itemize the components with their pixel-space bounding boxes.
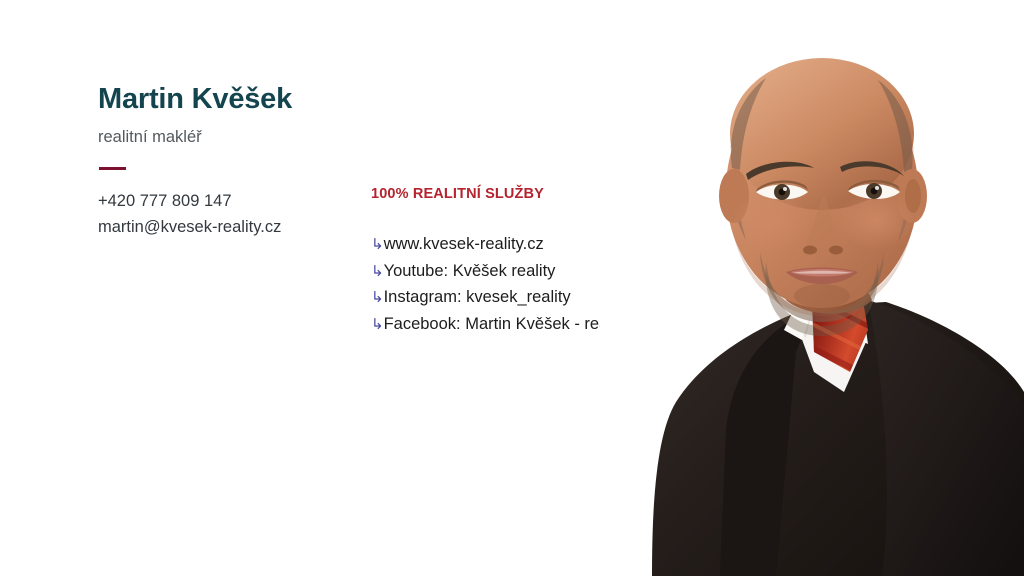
link-label-instagram: Instagram: kvesek_reality [384, 284, 571, 311]
page-title: Martin Kvěšek [98, 84, 368, 114]
link-label-website: www.kvesek-reality.cz [384, 231, 544, 258]
arrow-right-down-icon: ↳ [371, 237, 384, 252]
contact-email[interactable]: martin@kvesek-reality.cz [98, 215, 368, 241]
accent-divider [99, 167, 126, 170]
identity-block: Martin Kvěšek realitní makléř +420 777 8… [98, 84, 368, 240]
arrow-right-down-icon: ↳ [371, 317, 384, 332]
slide-canvas: Martin Kvěšek realitní makléř +420 777 8… [0, 0, 1024, 576]
contact-list: +420 777 809 147 martin@kvesek-reality.c… [98, 189, 368, 240]
arrow-right-down-icon: ↳ [371, 264, 384, 279]
link-label-youtube: Youtube: Kvěšek reality [384, 258, 556, 285]
arrow-right-down-icon: ↳ [371, 290, 384, 305]
portrait-photo [600, 0, 1024, 576]
job-role-label: realitní makléř [98, 128, 368, 148]
contact-phone[interactable]: +420 777 809 147 [98, 189, 368, 215]
